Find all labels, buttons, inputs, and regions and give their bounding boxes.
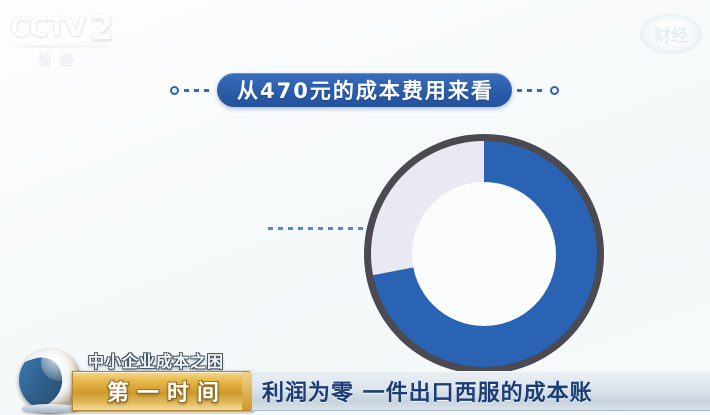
donut-center-hole: [412, 182, 556, 326]
chart-title-banner: 从470元的成本费用来看: [170, 72, 559, 108]
program-name-tag: 第一时间: [72, 371, 254, 411]
program-name-text: 第一时间: [99, 375, 227, 407]
banner-right-dashes-icon: [517, 89, 545, 92]
cctv-channel-logo: CCTV 2 财经: [8, 12, 126, 70]
series-sublabel: 中小企业成本之困: [88, 348, 224, 372]
corner-watermark: 财经: [640, 14, 702, 54]
headline-bar: 利润为零 一件出口西服的成本账: [250, 371, 710, 411]
globe-base: [22, 404, 78, 413]
headline-left-accent: [242, 372, 252, 410]
banner-pill: 从470元的成本费用来看: [217, 73, 512, 107]
banner-right-circle-icon: [550, 86, 559, 95]
cctv-logo-channel-number: 2: [90, 8, 114, 48]
cctv-logo-subtitle: 财经: [38, 49, 82, 68]
corner-watermark-text: 财经: [654, 22, 688, 47]
banner-left-dashes-icon: [184, 89, 212, 92]
chart-leader-line: [268, 227, 364, 230]
broadcast-screenshot: CCTV 2 财经 财经 从470元的成本费用来看 中小企业成本之困: [0, 0, 710, 415]
cctv-logo-underline: [10, 45, 118, 48]
banner-title-text: 从470元的成本费用来看: [237, 75, 494, 105]
banner-left-circle-icon: [170, 86, 179, 95]
cctv-logo-wordmark: CCTV: [10, 12, 85, 43]
headline-text: 利润为零 一件出口西服的成本账: [262, 375, 593, 407]
lower-third: 中小企业成本之困 第一时间 利润为零 一件出口西服的成本账: [0, 339, 710, 415]
